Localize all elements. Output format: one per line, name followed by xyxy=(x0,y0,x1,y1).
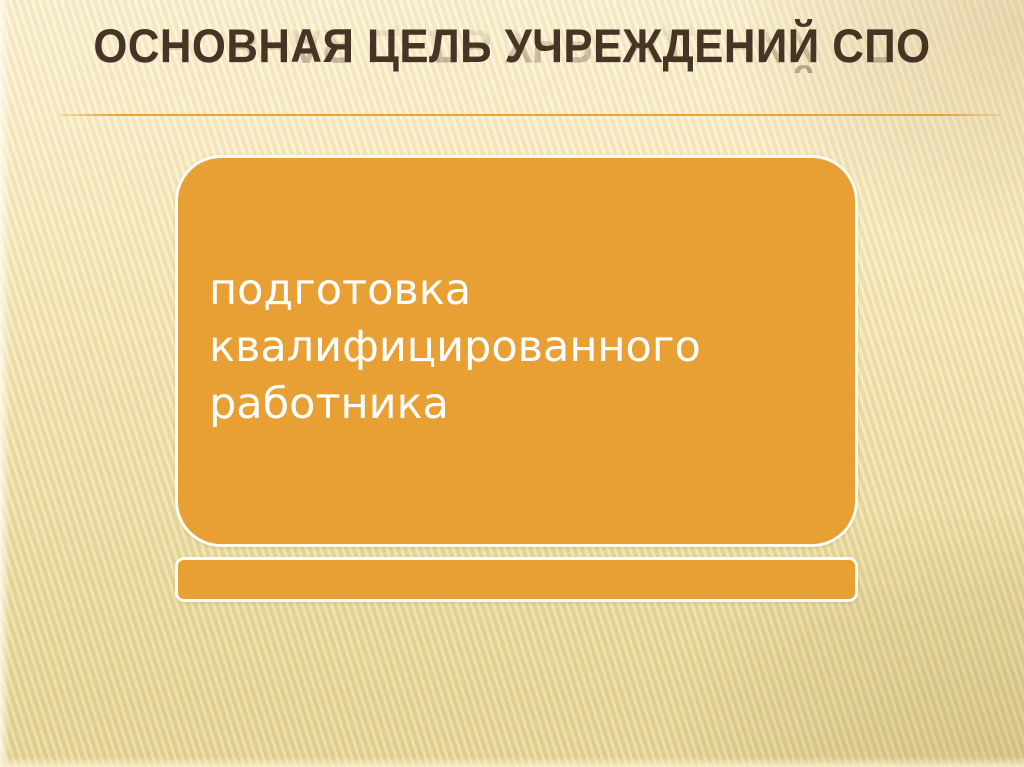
slide-title-block: Основная цель учреждений СПО Основная це… xyxy=(0,18,1024,116)
content-panel-secondary[interactable] xyxy=(175,557,858,602)
background-vignette-bottom-right xyxy=(674,517,1024,767)
background-bottom-highlight xyxy=(0,757,1024,767)
title-divider-rule xyxy=(60,114,1000,116)
content-panel-primary[interactable]: подготовка квалифицированного работника xyxy=(175,155,858,547)
slide-canvas: Основная цель учреждений СПО Основная це… xyxy=(0,0,1024,767)
page-title-reflection: Основная цель учреждений СПО xyxy=(36,18,988,74)
content-panel-primary-text: подготовка квалифицированного работника xyxy=(209,262,815,433)
